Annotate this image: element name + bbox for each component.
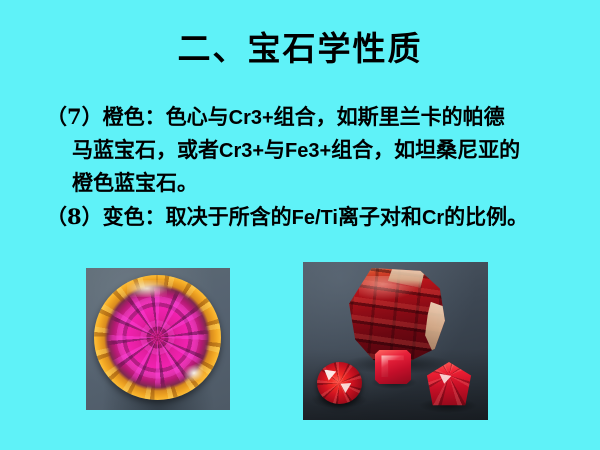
oval-cut-ruby-icon <box>317 362 362 404</box>
chemical-formula-fe3plus: Fe3+ <box>285 140 331 162</box>
paragraph-7-line2: 马蓝宝石，或者Cr3+与Fe3+组合，如坦桑尼亚的 <box>46 134 566 167</box>
paragraph-8-lead: 变色：取决于所含的 <box>103 204 292 229</box>
paragraph-7-marker: （7） <box>46 104 103 129</box>
gem-highlight-top <box>127 280 167 297</box>
paragraph-7-mid: 组合，如斯里兰卡的帕德 <box>274 104 505 129</box>
oval-stone-facets <box>317 362 362 404</box>
figure-colour-change-gem <box>86 268 230 410</box>
paragraph-7-lead: 橙色：色心与 <box>103 104 229 129</box>
paragraph-7-line2-a: 马蓝宝石，或者 <box>72 137 219 162</box>
square-stone-table-facet <box>381 355 403 377</box>
round-brilliant-gem-icon <box>94 275 221 400</box>
page-title: 二、宝石学性质 <box>0 28 600 70</box>
paragraph-7-line2-b: 与 <box>264 137 285 162</box>
paragraph-7-line3: 橙色蓝宝石。 <box>46 167 566 198</box>
paragraph-8-mid: 离子对和 <box>338 204 422 229</box>
chemical-formula-cr3plus-a: Cr3+ <box>229 107 274 129</box>
chemical-formula-feti: Fe/Ti <box>292 207 338 229</box>
slide-canvas: 二、宝石学性质 （7）橙色：色心与Cr3+组合，如斯里兰卡的帕德 马蓝宝石，或者… <box>0 0 600 450</box>
figure-ruby-crystal-and-stones <box>303 262 488 420</box>
paragraph-8-tail: 的比例。 <box>444 204 528 229</box>
paragraph-8-marker: （8） <box>46 204 103 229</box>
paragraph-7: （7）橙色：色心与Cr3+组合，如斯里兰卡的帕德 马蓝宝石，或者Cr3+与Fe3… <box>46 101 566 198</box>
slide-body-text: （7）橙色：色心与Cr3+组合，如斯里兰卡的帕德 马蓝宝石，或者Cr3+与Fe3… <box>46 101 566 234</box>
chemical-formula-cr3plus-b: Cr3+ <box>219 140 264 162</box>
paragraph-8: （8）变色：取决于所含的Fe/Ti离子对和Cr的比例。 <box>46 201 566 234</box>
emerald-cut-ruby-icon <box>375 350 411 384</box>
chemical-formula-cr: Cr <box>422 207 444 229</box>
paragraph-7-line2-c: 组合，如坦桑尼亚的 <box>331 137 520 162</box>
